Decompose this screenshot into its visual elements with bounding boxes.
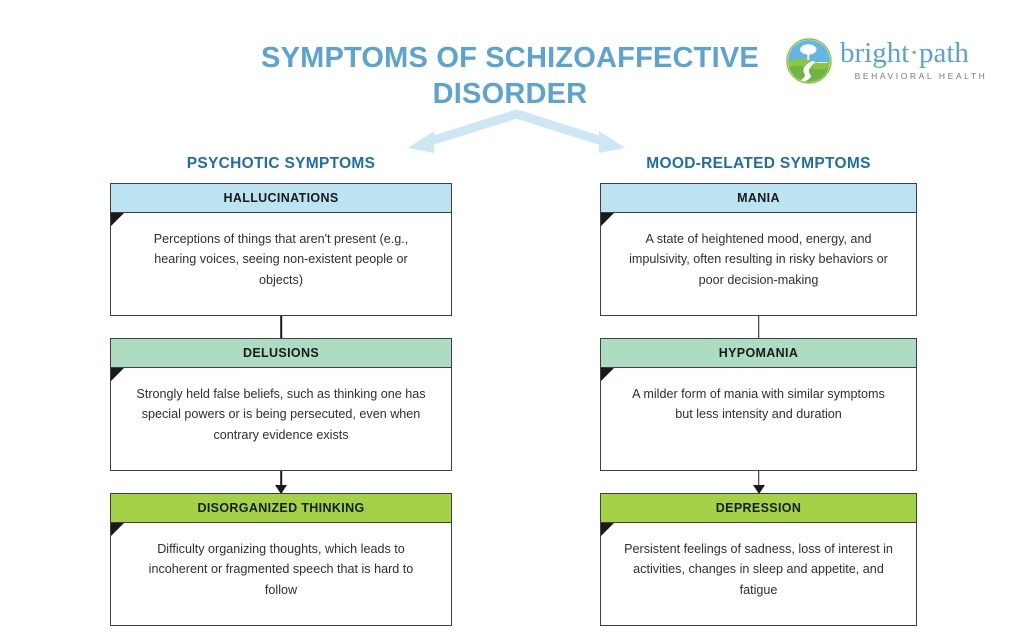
card-title-mania: MANIA (601, 184, 916, 213)
connector-hypomania-to-depression (600, 471, 917, 493)
logo-name-bright: bright (840, 37, 909, 69)
column-heading-psychotic: PSYCHOTIC SYMPTOMS (110, 155, 452, 173)
card-depression[interactable]: DEPRESSION Persistent feelings of sadnes… (600, 493, 917, 626)
connector-mania-to-hypomania (600, 316, 917, 338)
logo-name-path: path (919, 37, 969, 69)
brand-logo: bright·path BEHAVIORAL HEALTH (786, 36, 1002, 94)
logo-name-separator: · (909, 37, 919, 69)
card-title-delusions: DELUSIONS (111, 339, 451, 368)
card-title-disorganized-thinking: DISORGANIZED THINKING (111, 494, 451, 523)
card-hypomania[interactable]: HYPOMANIA A milder form of mania with si… (600, 338, 917, 471)
card-delusions[interactable]: DELUSIONS Strongly held false beliefs, s… (110, 338, 452, 471)
card-title-hallucinations: HALLUCINATIONS (111, 184, 451, 213)
connector-hallucinations-to-delusions (110, 316, 452, 338)
connector-line (758, 316, 760, 338)
card-disorganized-thinking[interactable]: DISORGANIZED THINKING Difficulty organiz… (110, 493, 452, 626)
connector-delusions-to-disorganized-thinking (110, 471, 452, 493)
card-body-hypomania: A milder form of mania with similar symp… (601, 368, 916, 470)
card-body-depression: Persistent feelings of sadness, loss of … (601, 523, 916, 625)
bright-path-circle-landscape-icon (786, 38, 832, 84)
connector-line (280, 316, 282, 338)
page-title: SYMPTOMS OF SCHIZOAFFECTIVE DISORDER (210, 40, 810, 113)
logo-tagline: BEHAVIORAL HEALTH (840, 71, 1002, 81)
card-body-disorganized-thinking: Difficulty organizing thoughts, which le… (111, 523, 451, 625)
card-body-mania: A state of heightened mood, energy, and … (601, 213, 916, 315)
card-hallucinations[interactable]: HALLUCINATIONS Perceptions of things tha… (110, 183, 452, 316)
column-mood-related-symptoms: MOOD-RELATED SYMPTOMS MANIA A state of h… (600, 155, 917, 626)
column-psychotic-symptoms: PSYCHOTIC SYMPTOMS HALLUCINATIONS Percep… (110, 155, 452, 626)
card-title-depression: DEPRESSION (601, 494, 916, 523)
logo-name: bright·path (840, 36, 1002, 70)
header: SYMPTOMS OF SCHIZOAFFECTIVE DISORDER (0, 0, 1024, 120)
card-body-hallucinations: Perceptions of things that aren't presen… (111, 213, 451, 315)
card-mania[interactable]: MANIA A state of heightened mood, energy… (600, 183, 917, 316)
column-heading-mood-related: MOOD-RELATED SYMPTOMS (600, 155, 917, 173)
card-title-hypomania: HYPOMANIA (601, 339, 916, 368)
card-body-delusions: Strongly held false beliefs, such as thi… (111, 368, 451, 470)
logo-wordmark: bright·path BEHAVIORAL HEALTH (840, 36, 1002, 81)
